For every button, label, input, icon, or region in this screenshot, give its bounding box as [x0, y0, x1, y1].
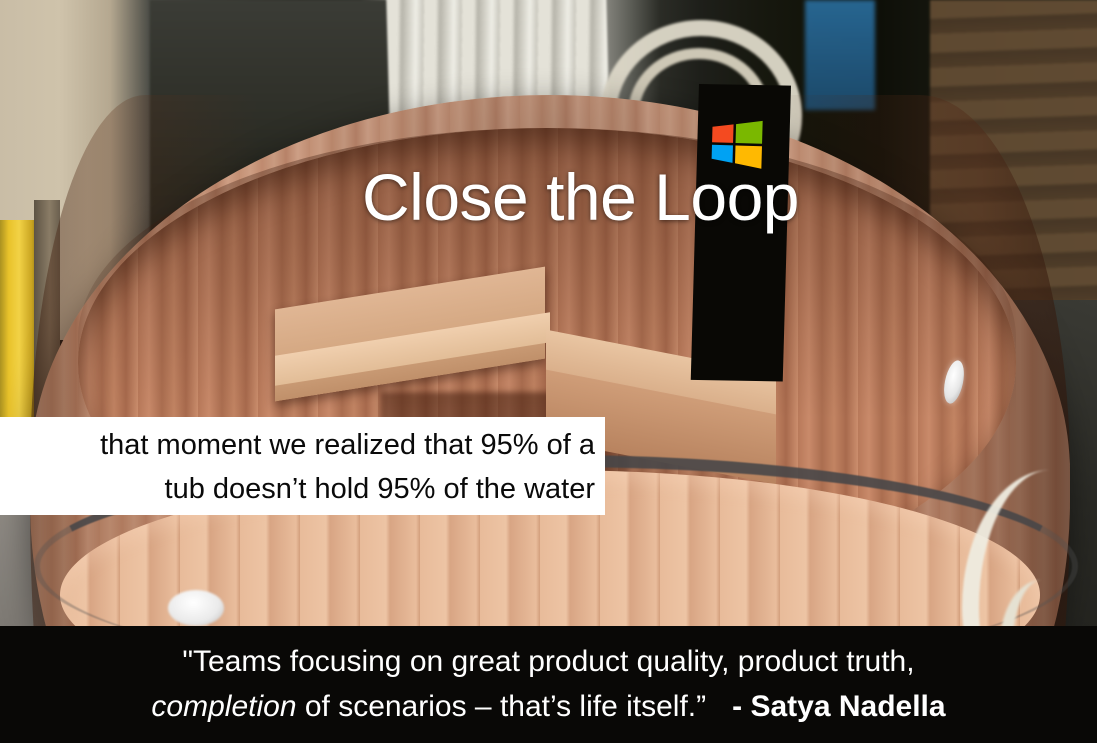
caption-line-1: that moment we realized that 95% of a: [14, 423, 595, 467]
quote-line-1: "Teams focusing on great product quality…: [0, 639, 1097, 684]
quote-emphasis-word: completion: [151, 690, 296, 723]
quote-attribution: - Satya Nadella: [732, 690, 945, 723]
blue-tarp: [805, 0, 875, 110]
page-title: Close the Loop: [362, 163, 832, 232]
quote-line-2-rest: of scenarios – that’s life itself.”: [297, 690, 707, 723]
windows-logo-tile-top-left: [712, 124, 734, 143]
quote-line-2: completion of scenarios – that’s life it…: [0, 684, 1097, 729]
tub-fitting-left: [168, 590, 224, 626]
presentation-slide: Close the Loop that moment we realized t…: [0, 0, 1097, 743]
quote-bar: "Teams focusing on great product quality…: [0, 626, 1097, 743]
caption-box: that moment we realized that 95% of a tu…: [0, 417, 605, 515]
windows-logo-tile-top-right: [736, 120, 763, 144]
caption-line-2: tub doesn’t hold 95% of the water: [14, 467, 595, 511]
